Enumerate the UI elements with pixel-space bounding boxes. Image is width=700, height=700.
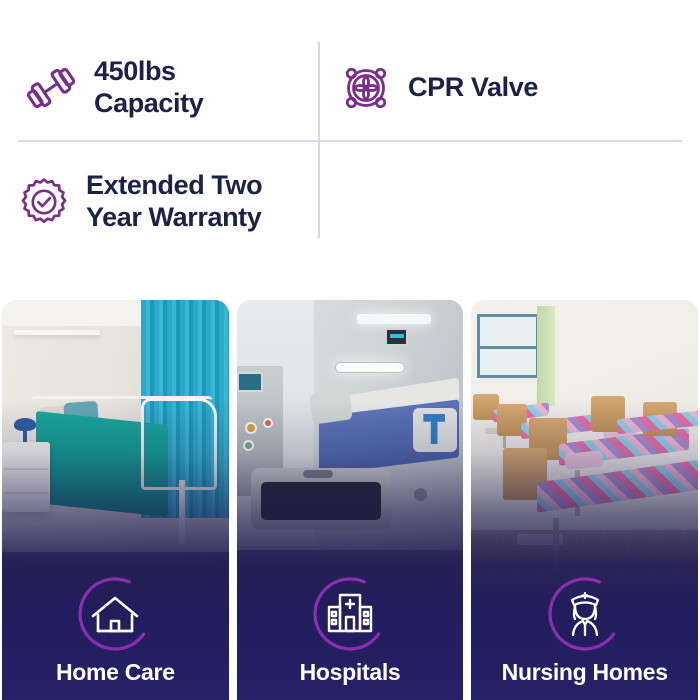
feature-capacity-line2: Capacity	[94, 88, 203, 118]
nurse-icon	[544, 573, 626, 655]
category-nursing-homes-label: Nursing Homes	[502, 659, 668, 686]
panel-hospitals[interactable]: Hospitals	[237, 300, 464, 700]
feature-cpr-valve: CPR Valve	[340, 58, 670, 118]
dumbbell-icon	[22, 59, 80, 117]
category-nursing-homes[interactable]: Nursing Homes	[471, 573, 698, 686]
house-icon	[74, 573, 156, 655]
panel-home-care[interactable]: Home Care	[2, 300, 229, 700]
warranty-seal-icon	[16, 174, 72, 230]
horizontal-divider	[18, 140, 682, 142]
hospital-icon	[309, 573, 391, 655]
feature-warranty-label: Extended Two Year Warranty	[86, 170, 262, 234]
cpr-valve-icon	[340, 62, 392, 114]
feature-warranty: Extended Two Year Warranty	[16, 163, 326, 241]
feature-warranty-line1: Extended Two	[86, 170, 262, 200]
feature-capacity-line1: 450lbs	[94, 56, 176, 86]
use-case-panels: Home Care	[0, 300, 700, 700]
category-home-care[interactable]: Home Care	[2, 573, 229, 686]
category-home-care-label: Home Care	[56, 659, 175, 686]
feature-capacity: 450lbs Capacity	[22, 50, 302, 126]
feature-cpr-label: CPR Valve	[408, 72, 538, 104]
category-hospitals-label: Hospitals	[300, 659, 401, 686]
category-hospitals[interactable]: Hospitals	[237, 573, 464, 686]
feature-highlights: 450lbs Capacity CPR Valve	[0, 0, 700, 300]
panel-nursing-homes[interactable]: Nursing Homes	[471, 300, 698, 700]
feature-warranty-line2: Year Warranty	[86, 202, 261, 232]
feature-capacity-label: 450lbs Capacity	[94, 56, 203, 120]
